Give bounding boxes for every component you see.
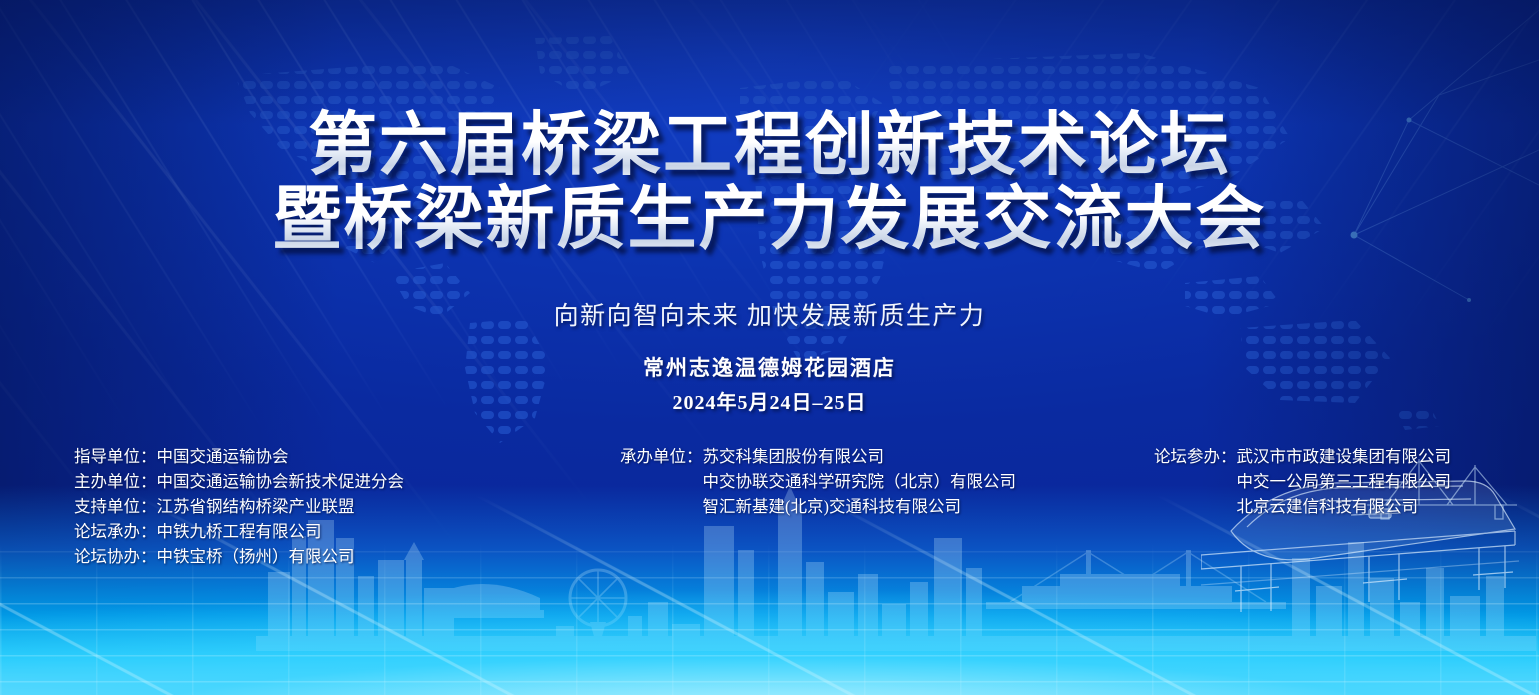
credit-value: 智汇新基建(北京)交通科技有限公司 [703, 497, 962, 516]
credits-column-middle: 承办单位：苏交科集团股份有限公司承办单位：中交协联交通科学研究院（北京）有限公司… [620, 444, 1016, 519]
credit-row: 承办单位：中交协联交通科学研究院（北京）有限公司 [620, 469, 1016, 494]
credit-label: 论坛参办： [1154, 444, 1237, 469]
credit-row: 论坛参办：中交一公局第三工程有限公司 [1154, 469, 1451, 494]
credit-value: 中国交通运输协会 [157, 447, 289, 466]
credits-column-right: 论坛参办：武汉市市政建设集团有限公司论坛参办：中交一公局第三工程有限公司论坛参办… [1154, 444, 1451, 519]
credit-value: 中交一公局第三工程有限公司 [1237, 472, 1452, 491]
title-line-2: 暨桥梁新质生产力发展交流大会 [0, 182, 1539, 256]
credit-row: 论坛参办：武汉市市政建设集团有限公司 [1154, 444, 1451, 469]
credit-label: 指导单位： [74, 444, 157, 469]
credit-value: 江苏省钢结构桥梁产业联盟 [157, 497, 355, 516]
credit-row: 承办单位：苏交科集团股份有限公司 [620, 444, 1016, 469]
credit-value: 中铁宝桥（扬州）有限公司 [157, 547, 355, 566]
credit-label: 论坛承办： [74, 519, 157, 544]
credits-column-left: 指导单位：中国交通运输协会主办单位：中国交通运输协会新技术促进分会支持单位：江苏… [74, 444, 404, 569]
credit-value: 中铁九桥工程有限公司 [157, 522, 322, 541]
venue-date: 2024年5月24日–25日 [0, 386, 1539, 415]
credit-row: 主办单位：中国交通运输协会新技术促进分会 [74, 469, 404, 494]
credit-value: 武汉市市政建设集团有限公司 [1237, 447, 1452, 466]
banner-content: 第六届桥梁工程创新技术论坛 暨桥梁新质生产力发展交流大会 向新向智向未来 加快发… [0, 0, 1539, 695]
credit-label: 承办单位： [620, 444, 703, 469]
event-slogan: 向新向智向未来 加快发展新质生产力 [0, 296, 1539, 332]
credit-value: 中国交通运输协会新技术促进分会 [157, 472, 405, 491]
credit-value: 北京云建信科技有限公司 [1237, 497, 1419, 516]
venue-block: 常州志逸温德姆花园酒店 2024年5月24日–25日 [0, 352, 1539, 415]
credit-label: 支持单位： [74, 494, 157, 519]
credit-row: 论坛协办：中铁宝桥（扬州）有限公司 [74, 544, 404, 569]
credit-value: 中交协联交通科学研究院（北京）有限公司 [703, 472, 1017, 491]
credit-row: 支持单位：江苏省钢结构桥梁产业联盟 [74, 494, 404, 519]
credit-row: 指导单位：中国交通运输协会 [74, 444, 404, 469]
credit-row: 论坛承办：中铁九桥工程有限公司 [74, 519, 404, 544]
credit-row: 论坛参办：北京云建信科技有限公司 [1154, 494, 1451, 519]
credit-label: 主办单位： [74, 469, 157, 494]
organization-credits: 指导单位：中国交通运输协会主办单位：中国交通运输协会新技术促进分会支持单位：江苏… [0, 444, 1539, 564]
title-line-1: 第六届桥梁工程创新技术论坛 [0, 108, 1539, 182]
credit-row: 承办单位：智汇新基建(北京)交通科技有限公司 [620, 494, 1016, 519]
conference-banner: 第六届桥梁工程创新技术论坛 暨桥梁新质生产力发展交流大会 向新向智向未来 加快发… [0, 0, 1539, 695]
venue-name: 常州志逸温德姆花园酒店 [0, 352, 1539, 382]
credit-value: 苏交科集团股份有限公司 [703, 447, 885, 466]
event-title: 第六届桥梁工程创新技术论坛 暨桥梁新质生产力发展交流大会 [0, 108, 1539, 256]
credit-label: 论坛协办： [74, 544, 157, 569]
